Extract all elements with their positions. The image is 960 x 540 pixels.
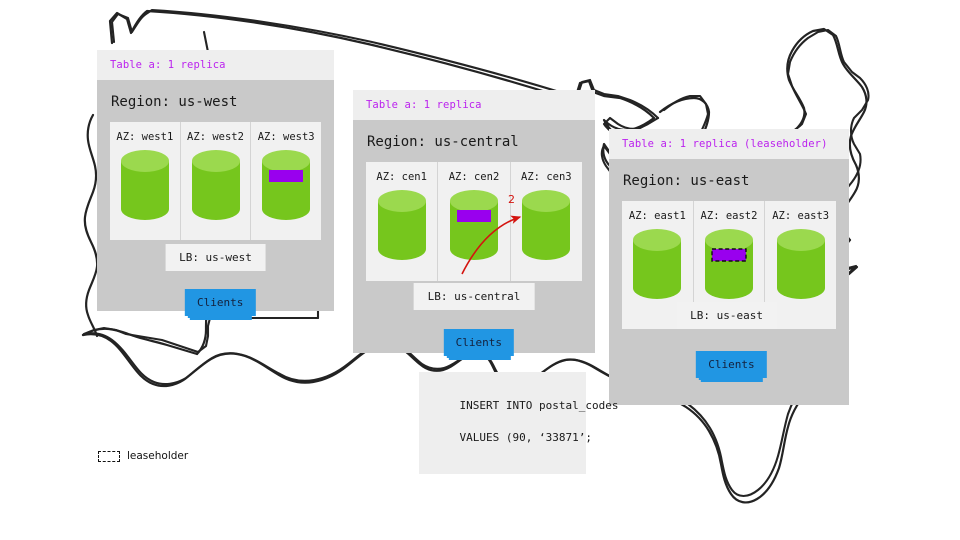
clients-stack-us-central[interactable]: Clients: [444, 329, 514, 356]
az-label-west3: AZ: west3: [258, 131, 315, 143]
node-cylinder-cen2[interactable]: [448, 189, 500, 261]
load-balancer-us-central[interactable]: LB: us-central: [414, 283, 535, 310]
az-row-west: AZ: west1 AZ: west2: [110, 122, 321, 240]
az-label-east1: AZ: east1: [629, 210, 686, 222]
leaseholder-bar-east2: [712, 249, 746, 261]
node-cylinder-west3[interactable]: [260, 149, 312, 221]
region-label-east: Region: us-east: [609, 159, 849, 201]
node-cylinder-cen1[interactable]: [376, 189, 428, 261]
region-panel-us-west: Table a: 1 replica Region: us-west AZ: w…: [97, 50, 334, 311]
node-cylinder-east3[interactable]: [775, 228, 827, 300]
region-label-west: Region: us-west: [97, 80, 334, 122]
sql-statement-box: INSERT INTO postal_codes VALUES (90, ‘33…: [419, 372, 586, 474]
sql-line-1: INSERT INTO postal_codes: [460, 399, 619, 412]
load-balancer-us-east[interactable]: LB: us-east: [676, 302, 777, 329]
replica-bar-west3: [269, 170, 303, 182]
clients-stack-us-west[interactable]: Clients: [185, 289, 255, 316]
legend: leaseholder: [98, 450, 188, 462]
az-cell-cen1[interactable]: AZ: cen1: [366, 162, 437, 281]
arrow-step-label: 2: [508, 193, 515, 206]
clients-button-us-central[interactable]: Clients: [444, 329, 514, 356]
region-panel-us-central: Table a: 1 replica Region: us-central AZ…: [353, 90, 595, 353]
dashed-rectangle-icon: [98, 451, 120, 462]
region-panel-us-east: Table a: 1 replica (leaseholder) Region:…: [609, 129, 849, 405]
clients-button-us-east[interactable]: Clients: [696, 351, 766, 378]
node-cylinder-west2[interactable]: [190, 149, 242, 221]
node-cylinder-east2[interactable]: [703, 228, 755, 300]
az-label-west1: AZ: west1: [116, 131, 173, 143]
diagram-canvas: Table a: 1 replica Region: us-west AZ: w…: [0, 0, 960, 540]
node-cylinder-west1[interactable]: [119, 149, 171, 221]
az-label-east3: AZ: east3: [772, 210, 829, 222]
az-cell-west3[interactable]: AZ: west3: [250, 122, 321, 240]
az-cell-cen2[interactable]: AZ: cen2: [437, 162, 509, 281]
load-balancer-us-west[interactable]: LB: us-west: [165, 244, 266, 271]
az-cell-cen3[interactable]: AZ: cen3: [510, 162, 582, 281]
table-replica-label-central: Table a: 1 replica: [353, 90, 595, 120]
legend-label: leaseholder: [127, 450, 188, 462]
node-cylinder-cen3[interactable]: [520, 189, 572, 261]
az-label-east2: AZ: east2: [701, 210, 758, 222]
az-label-cen2: AZ: cen2: [449, 171, 500, 183]
node-cylinder-east1[interactable]: [631, 228, 683, 300]
az-label-cen1: AZ: cen1: [376, 171, 427, 183]
replica-bar-cen2: [457, 210, 491, 222]
az-label-west2: AZ: west2: [187, 131, 244, 143]
az-label-cen3: AZ: cen3: [521, 171, 572, 183]
sql-line-2: VALUES (90, ‘33871’;: [460, 431, 592, 444]
az-cell-west2[interactable]: AZ: west2: [180, 122, 251, 240]
table-replica-label-east: Table a: 1 replica (leaseholder): [609, 129, 849, 159]
az-cell-west1[interactable]: AZ: west1: [110, 122, 180, 240]
region-label-central: Region: us-central: [353, 120, 595, 162]
az-row-central: AZ: cen1 AZ: cen2: [366, 162, 582, 281]
clients-stack-us-east[interactable]: Clients: [696, 351, 766, 378]
clients-button-us-west[interactable]: Clients: [185, 289, 255, 316]
table-replica-label-west: Table a: 1 replica: [97, 50, 334, 80]
